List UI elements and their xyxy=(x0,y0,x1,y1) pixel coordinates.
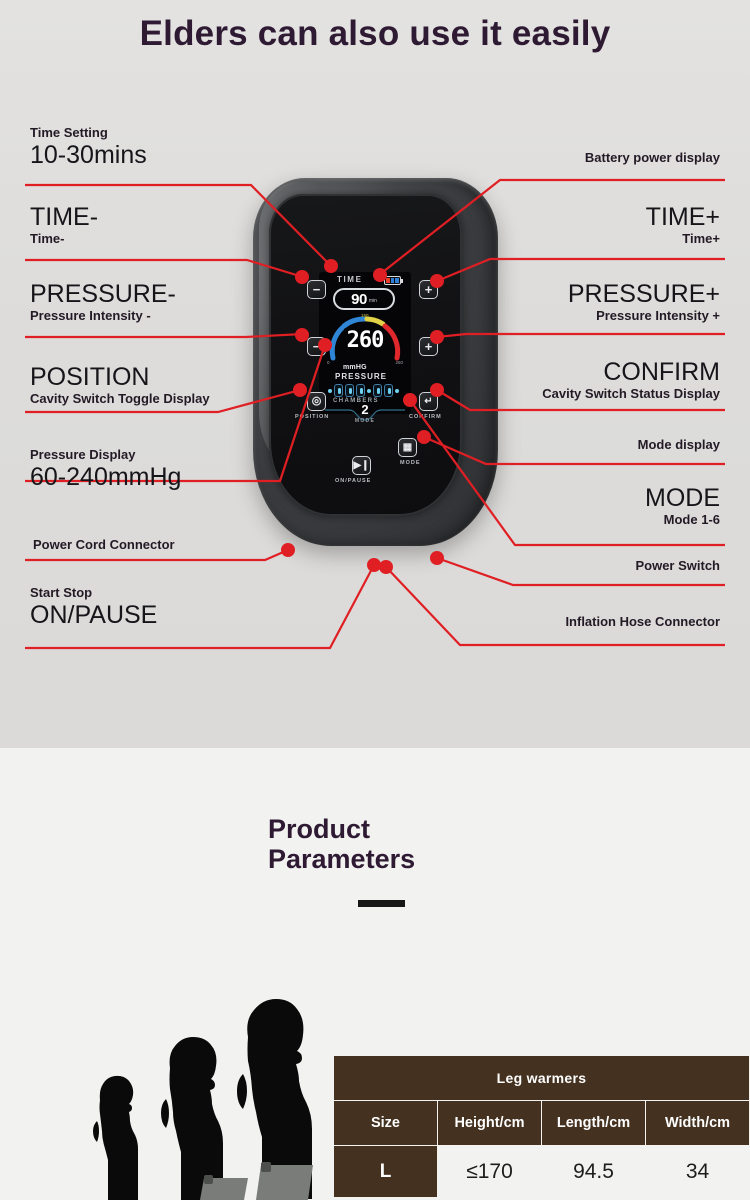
table-row: L ≤170 94.5 34 xyxy=(334,1146,750,1198)
lcd-screen: TIME 90 min 150 0 260 260 xyxy=(319,272,411,414)
body-size-silhouettes xyxy=(58,982,313,1200)
callout-main: POSITION xyxy=(30,363,210,392)
confirm-button[interactable]: ↵ xyxy=(419,392,438,411)
table-title-row: Leg warmers xyxy=(334,1056,750,1101)
table-title: Leg warmers xyxy=(334,1056,750,1101)
callout-sub: Battery power display xyxy=(585,151,720,166)
gauge-min-tick: 0 xyxy=(327,360,330,365)
callout-sub: Time+ xyxy=(646,232,720,247)
on-pause-button[interactable]: ▶❙ xyxy=(352,456,371,475)
lcd-mode-zone: 2 MODE xyxy=(323,404,407,428)
hero-section: Elders can also use it easily TIME 90 mi… xyxy=(0,0,750,748)
callout-battery-display: Battery power display xyxy=(585,151,720,166)
callout-main: PRESSURE- xyxy=(30,280,176,309)
callout-confirm: CONFIRM Cavity Switch Status Display xyxy=(542,358,720,402)
lcd-pressure-value: 260 xyxy=(325,328,405,353)
time-plus-button[interactable]: + xyxy=(419,280,438,299)
lcd-time-value: 90 xyxy=(351,291,367,308)
cell-size: L xyxy=(334,1146,438,1198)
lcd-time-readout: 90 min xyxy=(333,288,395,310)
callout-pressure-display: Pressure Display 60-240mmHg xyxy=(30,448,181,492)
position-button-caption: POSITION xyxy=(295,414,329,420)
callout-main: PRESSURE+ xyxy=(568,280,720,309)
callout-position: POSITION Cavity Switch Toggle Display xyxy=(30,363,210,407)
lcd-time-unit: min xyxy=(369,298,377,304)
callout-sub: Power Cord Connector xyxy=(33,538,175,553)
callout-main: 60-240mmHg xyxy=(30,463,181,492)
callout-inflation-hose: Inflation Hose Connector xyxy=(565,615,720,630)
cell-height: ≤170 xyxy=(438,1146,542,1198)
callout-sub: Power Switch xyxy=(635,559,720,574)
chambers-indicator xyxy=(328,384,402,397)
confirm-button-caption: CONFIRM xyxy=(409,414,442,420)
mode-button[interactable]: ▦ xyxy=(398,438,417,457)
callout-power-cord: Power Cord Connector xyxy=(33,538,175,553)
lcd-pressure-label: PRESSURE xyxy=(335,372,387,381)
callout-main: CONFIRM xyxy=(542,358,720,387)
parameters-heading-line1: Product xyxy=(268,814,415,844)
spec-table: Leg warmers Size Height/cm Length/cm Wid… xyxy=(333,1055,750,1198)
device-control-panel: TIME 90 min 150 0 260 260 xyxy=(269,194,462,516)
pressure-minus-button[interactable]: − xyxy=(307,337,326,356)
callout-sub: Pressure Intensity + xyxy=(568,309,720,324)
page-title: Elders can also use it easily xyxy=(0,14,750,54)
mode-button-caption: MODE xyxy=(400,460,421,466)
lcd-time-label: TIME xyxy=(337,275,363,284)
callout-time-minus: TIME- Time- xyxy=(30,203,98,247)
on-pause-button-caption: ON/PAUSE xyxy=(335,478,371,484)
callout-sub: Cavity Switch Toggle Display xyxy=(30,392,210,407)
parameters-heading-line2: Parameters xyxy=(268,844,415,874)
position-button[interactable]: ◎ xyxy=(307,392,326,411)
lcd-mode-label: MODE xyxy=(323,418,407,424)
callout-sub: Cavity Switch Status Display xyxy=(542,387,720,402)
callout-mode-display: Mode display xyxy=(638,438,720,453)
callout-start-stop: Start Stop ON/PAUSE xyxy=(30,586,157,630)
callout-time-plus: TIME+ Time+ xyxy=(646,203,720,247)
callout-sub: Inflation Hose Connector xyxy=(565,615,720,630)
callout-sub: Time Setting xyxy=(30,126,147,141)
callout-sub: Mode display xyxy=(638,438,720,453)
callout-main: TIME- xyxy=(30,203,98,232)
column-header-width: Width/cm xyxy=(646,1101,750,1146)
table-header-row: Size Height/cm Length/cm Width/cm xyxy=(334,1101,750,1146)
column-header-size: Size xyxy=(334,1101,438,1146)
callout-main: ON/PAUSE xyxy=(30,601,157,630)
callout-main: 10-30mins xyxy=(30,141,147,170)
cell-width: 34 xyxy=(646,1146,750,1198)
callout-pressure-minus: PRESSURE- Pressure Intensity - xyxy=(30,280,176,324)
cell-length: 94.5 xyxy=(542,1146,646,1198)
lcd-mode-value: 2 xyxy=(323,402,407,417)
lcd-pressure-unit: mmHG xyxy=(343,364,367,371)
parameters-heading: Product Parameters xyxy=(268,814,415,874)
callout-sub: Pressure Display xyxy=(30,448,181,463)
column-header-length: Length/cm xyxy=(542,1101,646,1146)
callout-main: MODE xyxy=(645,484,720,513)
heading-underline xyxy=(358,900,405,907)
pressure-gauge: 150 0 260 260 xyxy=(325,314,405,364)
callout-time-setting: Time Setting 10-30mins xyxy=(30,126,147,170)
callout-pressure-plus: PRESSURE+ Pressure Intensity + xyxy=(568,280,720,324)
gauge-max-tick: 260 xyxy=(395,360,403,365)
gauge-mid-tick: 150 xyxy=(361,313,369,318)
column-header-height: Height/cm xyxy=(438,1101,542,1146)
battery-icon xyxy=(384,276,401,285)
callout-sub: Mode 1-6 xyxy=(645,513,720,528)
device-illustration: TIME 90 min 150 0 260 260 xyxy=(243,178,508,553)
callout-sub: Time- xyxy=(30,232,98,247)
time-minus-button[interactable]: − xyxy=(307,280,326,299)
callout-sub: Pressure Intensity - xyxy=(30,309,176,324)
callout-power-switch: Power Switch xyxy=(635,559,720,574)
callout-mode: MODE Mode 1-6 xyxy=(645,484,720,528)
pressure-plus-button[interactable]: + xyxy=(419,337,438,356)
callout-sub: Start Stop xyxy=(30,586,157,601)
callout-main: TIME+ xyxy=(646,203,720,232)
